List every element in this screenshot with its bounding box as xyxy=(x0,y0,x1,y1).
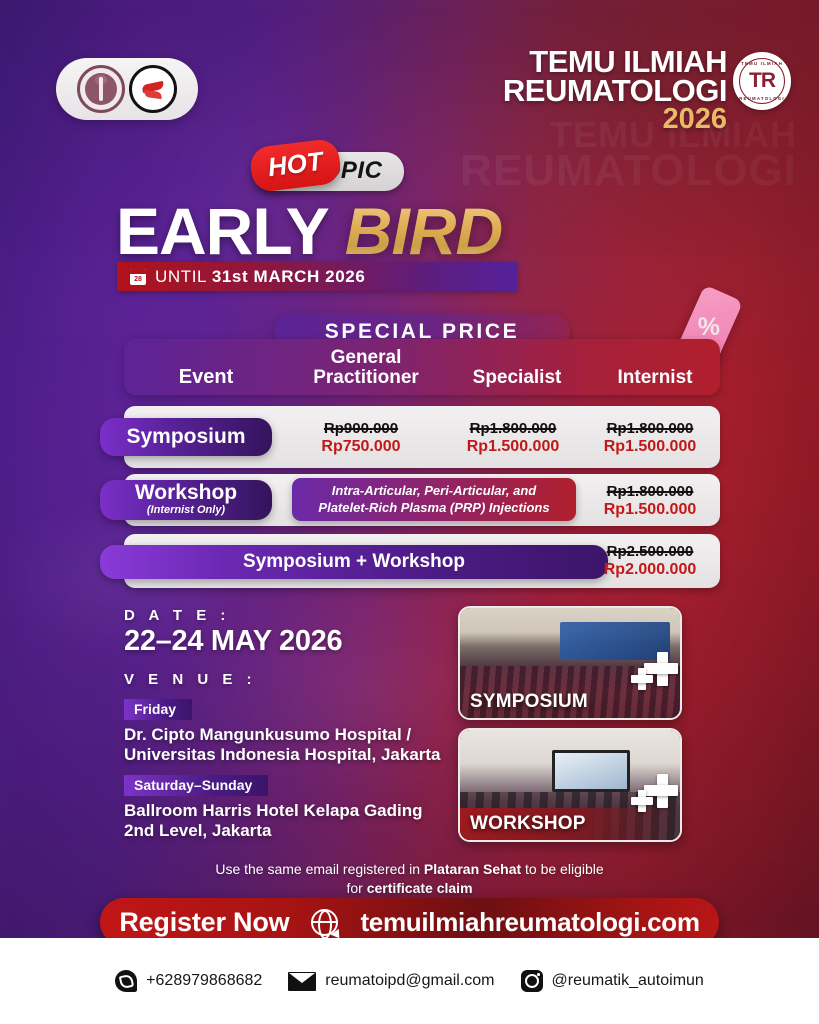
price-old: Rp1.800.000 xyxy=(583,421,717,438)
workshop-topic-line1: Intra-Articular, Peri-Articular, and xyxy=(332,483,536,500)
registration-note: Use the same email registered in Platara… xyxy=(0,860,819,898)
contact-email[interactable]: reumatoipd@gmail.com xyxy=(288,972,494,991)
column-header-event: Event xyxy=(124,367,288,388)
pricing-table-header: Event General Practitioner Specialist In… xyxy=(124,339,720,395)
price-new: Rp1.500.000 xyxy=(583,501,717,519)
deadline-date: 31st MARCH 2026 xyxy=(212,267,366,286)
date-label: D A T E : xyxy=(124,607,454,624)
headline-bird: BIRD xyxy=(345,194,502,268)
note-line1-post: to be eligible xyxy=(521,861,604,877)
event-year: 2026 xyxy=(503,106,727,133)
event-title-lockup: TEMU ILMIAH REUMATOLOGI 2026 TEMU ILMIAH… xyxy=(503,48,791,133)
early-bird-deadline-bar: 28 UNTIL 31st MARCH 2026 xyxy=(117,262,517,291)
column-header-general-practitioner: General Practitioner xyxy=(288,348,444,388)
venue-address-weekend: Ballroom Harris Hotel Kelapa Gading 2nd … xyxy=(124,801,454,840)
price-new: Rp1.500.000 xyxy=(583,438,717,456)
deadline-text: UNTIL 31st MARCH 2026 xyxy=(155,267,365,287)
row-label-symposium-workshop: Symposium + Workshop xyxy=(100,545,608,579)
price-old: Rp1.800.000 xyxy=(446,421,580,438)
row-label-workshop: Workshop (Internist Only) xyxy=(100,480,272,520)
contact-instagram[interactable]: @reumatik_autoimun xyxy=(521,970,704,992)
website-url: temuilmiahreumatologi.com xyxy=(360,907,699,938)
workshop-name: Workshop xyxy=(135,482,237,503)
price-old: Rp900.000 xyxy=(299,421,423,438)
date-value: 22–24 MAY 2026 xyxy=(124,625,454,658)
venue-label: V E N U E : xyxy=(124,671,454,688)
tr-emblem-icon: TEMU ILMIAH TR REUMATOLOGI xyxy=(733,52,791,110)
venue-friday-line2: Universitas Indonesia Hospital, Jakarta xyxy=(124,745,454,765)
price-workshop-internist: Rp1.800.000 Rp1.500.000 xyxy=(583,484,717,519)
whatsapp-icon xyxy=(115,970,137,992)
whatsapp-number: +628979868682 xyxy=(146,972,262,990)
venue-weekend-line1: Ballroom Harris Hotel Kelapa Gading xyxy=(124,801,454,821)
note-line2: for certificate claim xyxy=(0,879,819,898)
workshop-topic-line2: Platelet-Rich Plasma (PRP) Injections xyxy=(318,500,549,517)
price-symposium-specialist: Rp1.800.000 Rp1.500.000 xyxy=(446,421,580,456)
event-title-words: TEMU ILMIAH REUMATOLOGI 2026 xyxy=(503,48,727,133)
price-new: Rp750.000 xyxy=(299,438,423,456)
date-venue-block: D A T E : 22–24 MAY 2026 V E N U E : Fri… xyxy=(124,607,454,841)
email-address: reumatoipd@gmail.com xyxy=(325,972,494,990)
photo-caption-workshop: WORKSHOP xyxy=(460,808,680,840)
reumatologi-indonesia-seal-icon xyxy=(129,65,177,113)
row-label-symposium: Symposium xyxy=(100,418,272,456)
deadline-prefix: UNTIL xyxy=(155,267,212,286)
note-line1-pre: Use the same email registered in xyxy=(215,861,424,877)
price-symposium-gp: Rp900.000 Rp750.000 xyxy=(299,421,423,456)
discount-percent-symbol: % xyxy=(698,312,720,341)
poster-canvas: TEMU ILMIAH REUMATOLOGI TEMU ILMIAH REUM… xyxy=(0,0,819,1024)
emblem-top-text: TEMU ILMIAH xyxy=(735,61,789,66)
note-line2-bold: certificate claim xyxy=(367,880,473,896)
calendar-day: 28 xyxy=(134,274,142,285)
organization-logos xyxy=(56,58,198,120)
price-new: Rp1.500.000 xyxy=(446,438,580,456)
note-line1: Use the same email registered in Platara… xyxy=(0,860,819,879)
venue-address-friday: Dr. Cipto Mangunkusumo Hospital / Univer… xyxy=(124,725,454,764)
contact-footer: +628979868682 reumatoipd@gmail.com @reum… xyxy=(0,938,819,1024)
photo-caption-symposium: SYMPOSIUM xyxy=(460,686,680,718)
emblem-bottom-text: REUMATOLOGI xyxy=(735,96,789,101)
globe-icon xyxy=(311,909,338,936)
gp-line1: General xyxy=(288,348,444,368)
ipd-seal-icon xyxy=(77,65,125,113)
calendar-icon: 28 xyxy=(130,269,146,285)
price-old: Rp1.800.000 xyxy=(583,484,717,501)
venue-day-weekend: Saturday–Sunday xyxy=(124,775,268,796)
photo-card-workshop: WORKSHOP xyxy=(458,728,682,842)
email-icon xyxy=(288,972,316,991)
price-symposium-internist: Rp1.800.000 Rp1.500.000 xyxy=(583,421,717,456)
register-label: Register Now xyxy=(119,907,289,938)
price-combo: Rp2.500.000 Rp2.000.000 xyxy=(583,544,717,579)
contact-whatsapp[interactable]: +628979868682 xyxy=(115,970,262,992)
instagram-icon xyxy=(521,970,543,992)
event-title-line2: REUMATOLOGI xyxy=(503,77,727,106)
venue-weekend-line2: 2nd Level, Jakarta xyxy=(124,821,454,841)
hot-topic-banner: TOPIC HOT xyxy=(253,152,404,190)
early-bird-headline: EARLY BIRD xyxy=(116,198,502,264)
photo-card-symposium: SYMPOSIUM xyxy=(458,606,682,720)
headline-early: EARLY xyxy=(116,194,327,268)
venue-friday-line1: Dr. Cipto Mangunkusumo Hospital / xyxy=(124,725,454,745)
venue-day-friday: Friday xyxy=(124,699,192,720)
price-old: Rp2.500.000 xyxy=(583,544,717,561)
note-line2-pre: for xyxy=(346,880,366,896)
note-line1-bold: Plataran Sehat xyxy=(424,861,521,877)
gp-line2: Practitioner xyxy=(288,368,444,388)
price-new: Rp2.000.000 xyxy=(583,561,717,579)
column-header-specialist: Specialist xyxy=(444,368,590,388)
instagram-handle: @reumatik_autoimun xyxy=(552,972,704,990)
column-header-internist: Internist xyxy=(590,368,720,388)
emblem-initials: TR xyxy=(749,69,775,93)
workshop-topic: Intra-Articular, Peri-Articular, and Pla… xyxy=(292,478,576,521)
workshop-note: (Internist Only) xyxy=(147,503,225,517)
